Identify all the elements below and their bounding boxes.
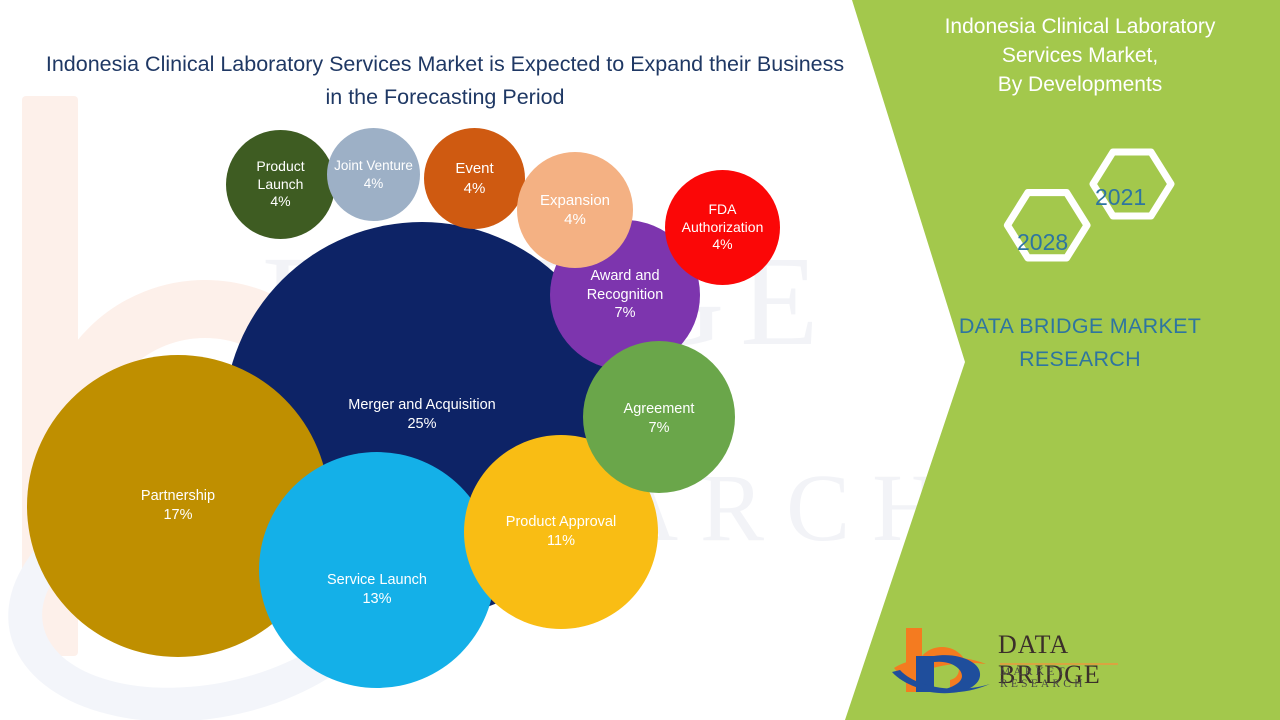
- bubble-label: Partnership17%: [135, 487, 221, 524]
- bubble-expansion[interactable]: Expansion4%: [517, 152, 633, 268]
- bubble-category-name: Joint Venture: [334, 158, 413, 173]
- bubble-category-name: Product Launch: [256, 158, 304, 192]
- bubble-label: Product Launch4%: [226, 158, 335, 212]
- panel-title-line3: By Developments: [880, 70, 1280, 99]
- bubble-percent-value: 11%: [506, 532, 616, 551]
- bubble-percent-value: 4%: [334, 175, 413, 192]
- bubble-percent-value: 4%: [540, 210, 610, 229]
- logo-subtitle: MARKET RESEARCH: [1000, 666, 1120, 690]
- hexagon-year-2028-label: 2028: [1017, 229, 1068, 256]
- bubble-label: FDA Authorization4%: [665, 201, 780, 255]
- bubble-joint-venture[interactable]: Joint Venture4%: [327, 128, 420, 221]
- bubble-percent-value: 25%: [348, 415, 496, 434]
- bubble-category-name: Award and Recognition: [587, 268, 664, 303]
- logo-divider: [1000, 663, 1118, 665]
- bubble-label: Joint Venture4%: [328, 157, 419, 192]
- brand-name-text: DATA BRIDGE MARKET RESEARCH: [905, 310, 1255, 376]
- bubble-label: Event4%: [449, 159, 499, 197]
- page-title: Indonesia Clinical Laboratory Services M…: [40, 48, 850, 114]
- bubble-product-launch[interactable]: Product Launch4%: [226, 130, 335, 239]
- bubble-label: Merger and Acquisition25%: [342, 396, 502, 433]
- bubble-percent-value: 4%: [455, 179, 493, 198]
- bubble-fda-authorization[interactable]: FDA Authorization4%: [665, 170, 780, 285]
- panel-content: Indonesia Clinical Laboratory Services M…: [880, 0, 1280, 720]
- bubble-category-name: FDA Authorization: [682, 201, 764, 235]
- bubble-event[interactable]: Event4%: [424, 128, 525, 229]
- panel-title-line2: Services Market,: [880, 41, 1280, 70]
- bubble-category-name: Service Launch: [327, 572, 427, 588]
- bubble-category-name: Expansion: [540, 192, 610, 209]
- bubble-label: Service Launch13%: [321, 571, 433, 608]
- bubble-category-name: Merger and Acquisition: [348, 397, 496, 413]
- bubble-label: Agreement7%: [618, 400, 701, 437]
- bubble-category-name: Partnership: [141, 488, 215, 504]
- bubble-percent-value: 13%: [327, 590, 427, 609]
- panel-title: Indonesia Clinical Laboratory Services M…: [880, 12, 1280, 99]
- bubble-percent-value: 7%: [556, 304, 694, 323]
- bubble-category-name: Event: [455, 160, 493, 177]
- hexagon-outlines: [985, 140, 1185, 280]
- bubble-percent-value: 17%: [141, 506, 215, 525]
- bubble-label: Expansion4%: [534, 191, 616, 229]
- data-bridge-logo: DATA BRIDGE MARKET RESEARCH: [890, 622, 1120, 702]
- bubble-service-launch[interactable]: Service Launch13%: [259, 452, 495, 688]
- panel-title-line1: Indonesia Clinical Laboratory: [880, 12, 1280, 41]
- bubble-category-name: Product Approval: [506, 514, 616, 530]
- bubble-label: Product Approval11%: [500, 513, 622, 550]
- bubble-percent-value: 4%: [232, 193, 329, 211]
- bubble-agreement[interactable]: Agreement7%: [583, 341, 735, 493]
- bubble-percent-value: 4%: [671, 236, 774, 254]
- logo-mark-icon: [890, 622, 1000, 700]
- bubble-label: Award and Recognition7%: [550, 267, 700, 323]
- bubble-category-name: Agreement: [624, 401, 695, 417]
- bubble-percent-value: 7%: [624, 419, 695, 438]
- infographic-canvas: BRIDGE RESEARCH Indonesia Clinical Labor…: [0, 0, 1280, 720]
- year-hexagons: 2021 2028: [985, 140, 1185, 280]
- hexagon-year-2021-label: 2021: [1095, 184, 1146, 211]
